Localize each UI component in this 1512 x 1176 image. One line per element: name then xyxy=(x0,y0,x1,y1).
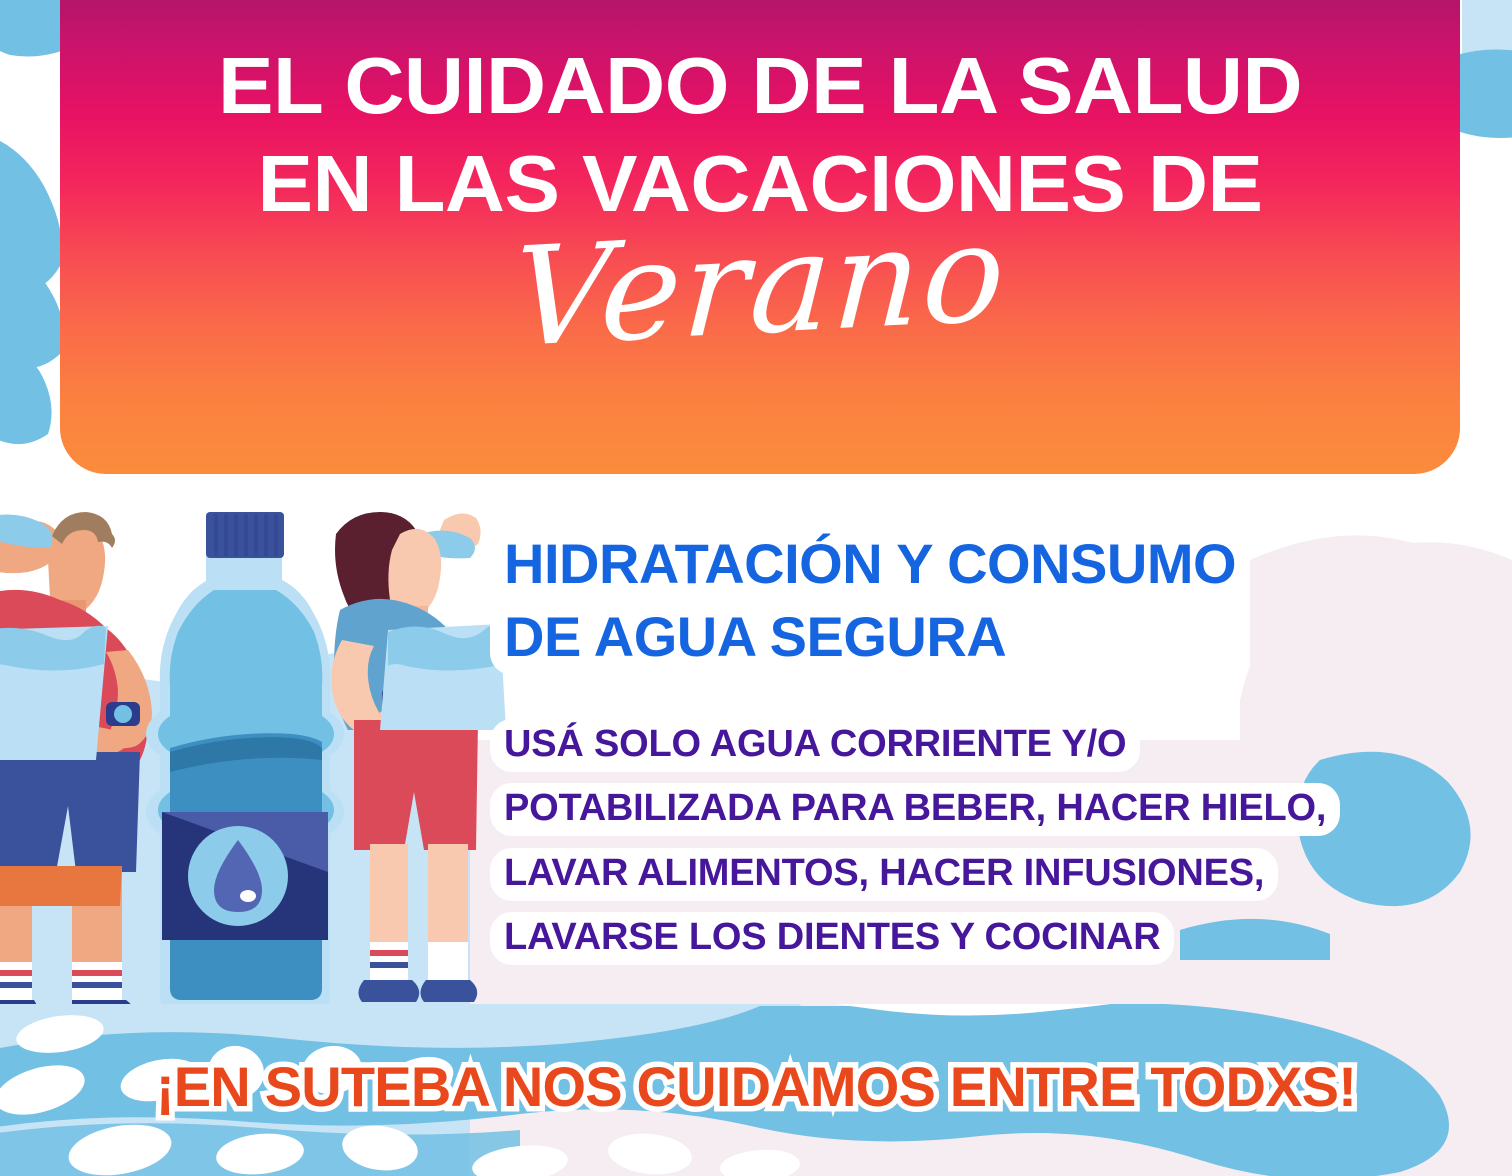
title-script-verano: Verano xyxy=(510,205,1010,367)
poster-canvas: EL CUIDADO DE LA SALUD EN LAS VACACIONES… xyxy=(0,0,1512,1176)
wave-shape-topright-2 xyxy=(1460,49,1512,138)
wave-shape-topleft-2 xyxy=(0,130,62,290)
heading-line-2: DE AGUA SEGURA xyxy=(490,601,1020,675)
body-line-2: POTABILIZADA PARA BEBER, HACER HIELO, xyxy=(490,783,1340,836)
title-line-1: EL CUIDADO DE LA SALUD xyxy=(60,48,1460,124)
header-gradient-card: EL CUIDADO DE LA SALUD EN LAS VACACIONES… xyxy=(60,0,1460,474)
body-line-1: USÁ SOLO AGUA CORRIENTE Y/O xyxy=(490,719,1140,772)
heading-line-1: HIDRATACIÓN Y CONSUMO xyxy=(490,528,1250,602)
title-block: EL CUIDADO DE LA SALUD EN LAS VACACIONES… xyxy=(60,0,1460,354)
wave-shape-topleft-4 xyxy=(0,330,52,444)
section-body: USÁ SOLO AGUA CORRIENTE Y/O POTABILIZADA… xyxy=(490,712,1470,970)
section-heading: HIDRATACIÓN Y CONSUMO DE AGUA SEGURA xyxy=(490,528,1470,674)
wave-shape-topright-1 xyxy=(1462,0,1512,56)
body-line-4: LAVARSE LOS DIENTES Y COCINAR xyxy=(490,912,1174,965)
wave-shape-topleft-3 xyxy=(0,250,64,368)
main-text-column: HIDRATACIÓN Y CONSUMO DE AGUA SEGURA USÁ… xyxy=(490,528,1470,970)
footer-slogan: ¡EN SUTEBA NOS CUIDAMOS ENTRE TODXS! xyxy=(0,1054,1512,1119)
body-line-3: LAVAR ALIMENTOS, HACER INFUSIONES, xyxy=(490,848,1278,901)
